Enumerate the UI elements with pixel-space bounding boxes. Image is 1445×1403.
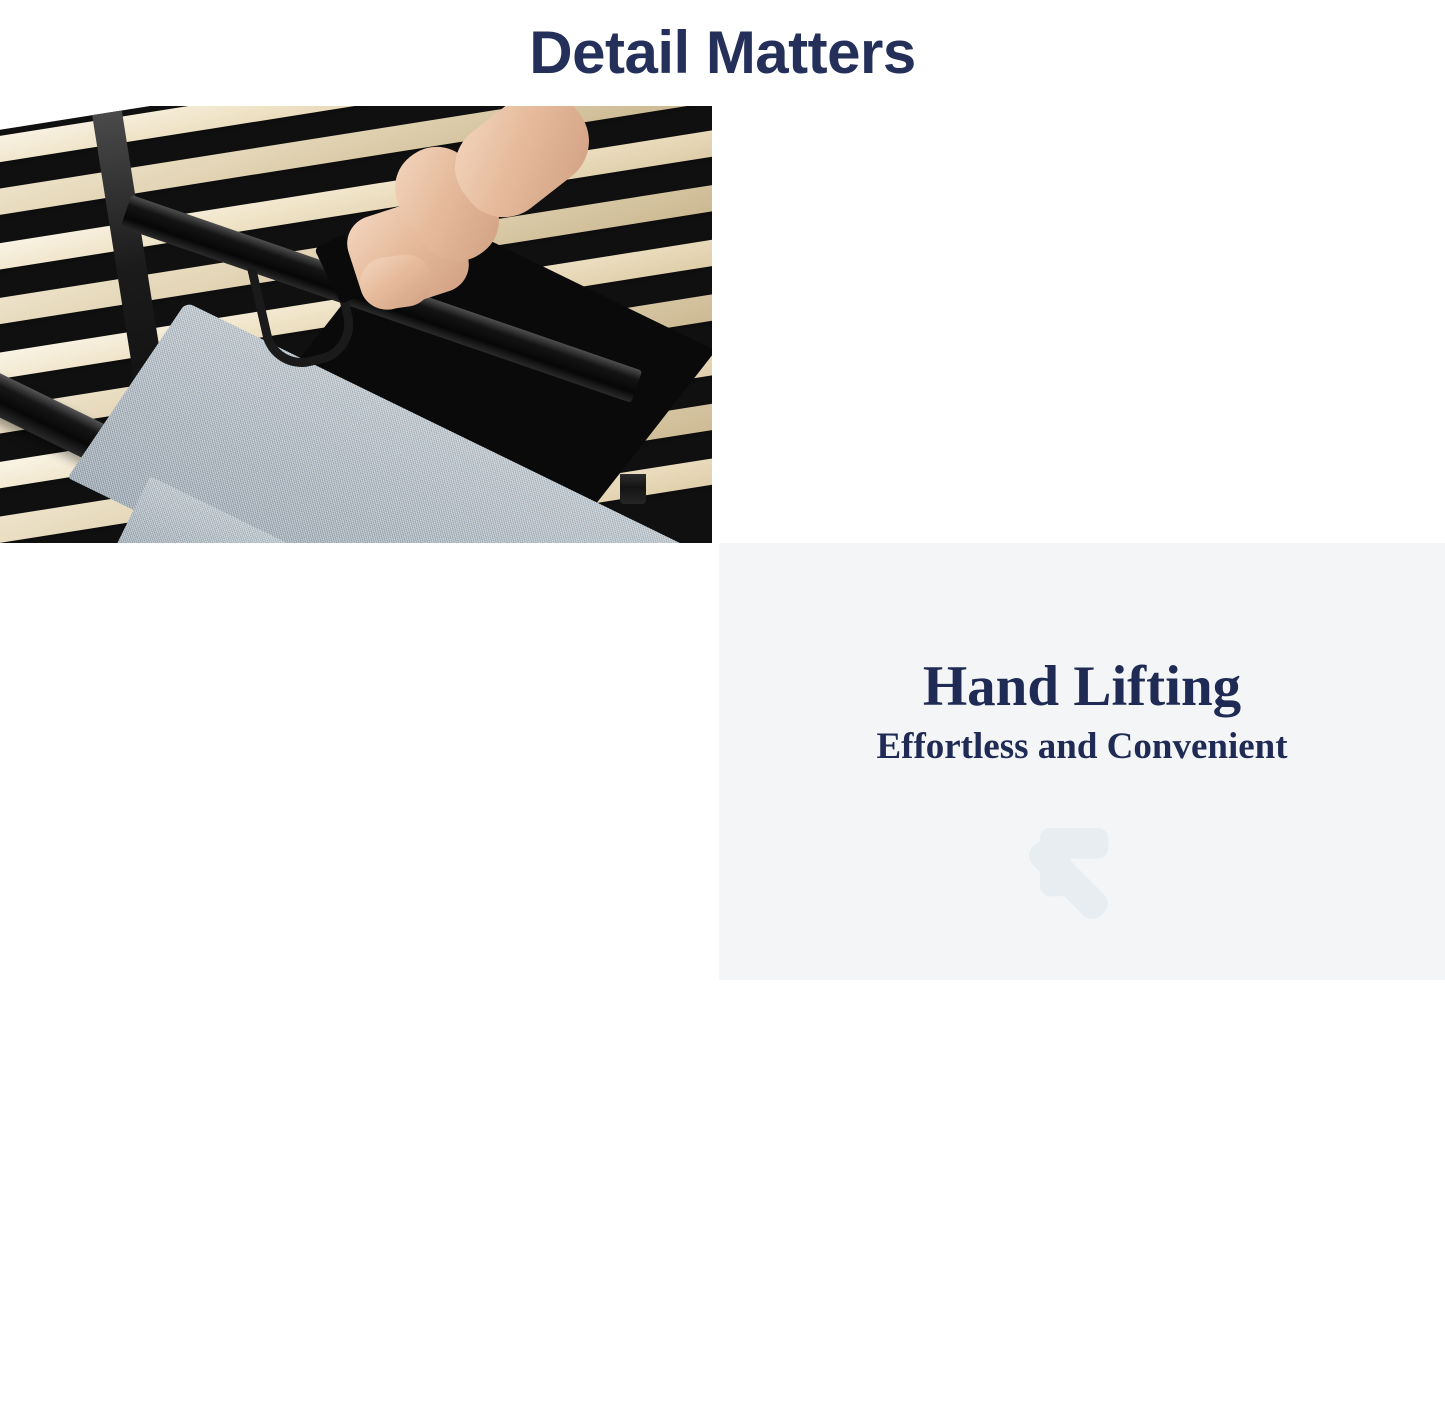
infographic-page: Detail Matters	[0, 0, 1445, 1403]
page-title: Detail Matters	[529, 23, 915, 83]
feature-photo-hand-lifting	[0, 106, 712, 543]
arrow-up-left-icon	[1021, 809, 1139, 927]
feature-title-hand-lifting: Hand Lifting	[719, 655, 1445, 719]
feature-subtitle-hand-lifting: Effortless and Convenient	[719, 725, 1445, 769]
feature-panel-hand-lifting: Hand Lifting Effortless and Convenient	[719, 543, 1445, 980]
header: Detail Matters	[0, 0, 1445, 105]
feature-grid: Hand Lifting Effortless and Convenient P…	[0, 106, 1445, 1403]
